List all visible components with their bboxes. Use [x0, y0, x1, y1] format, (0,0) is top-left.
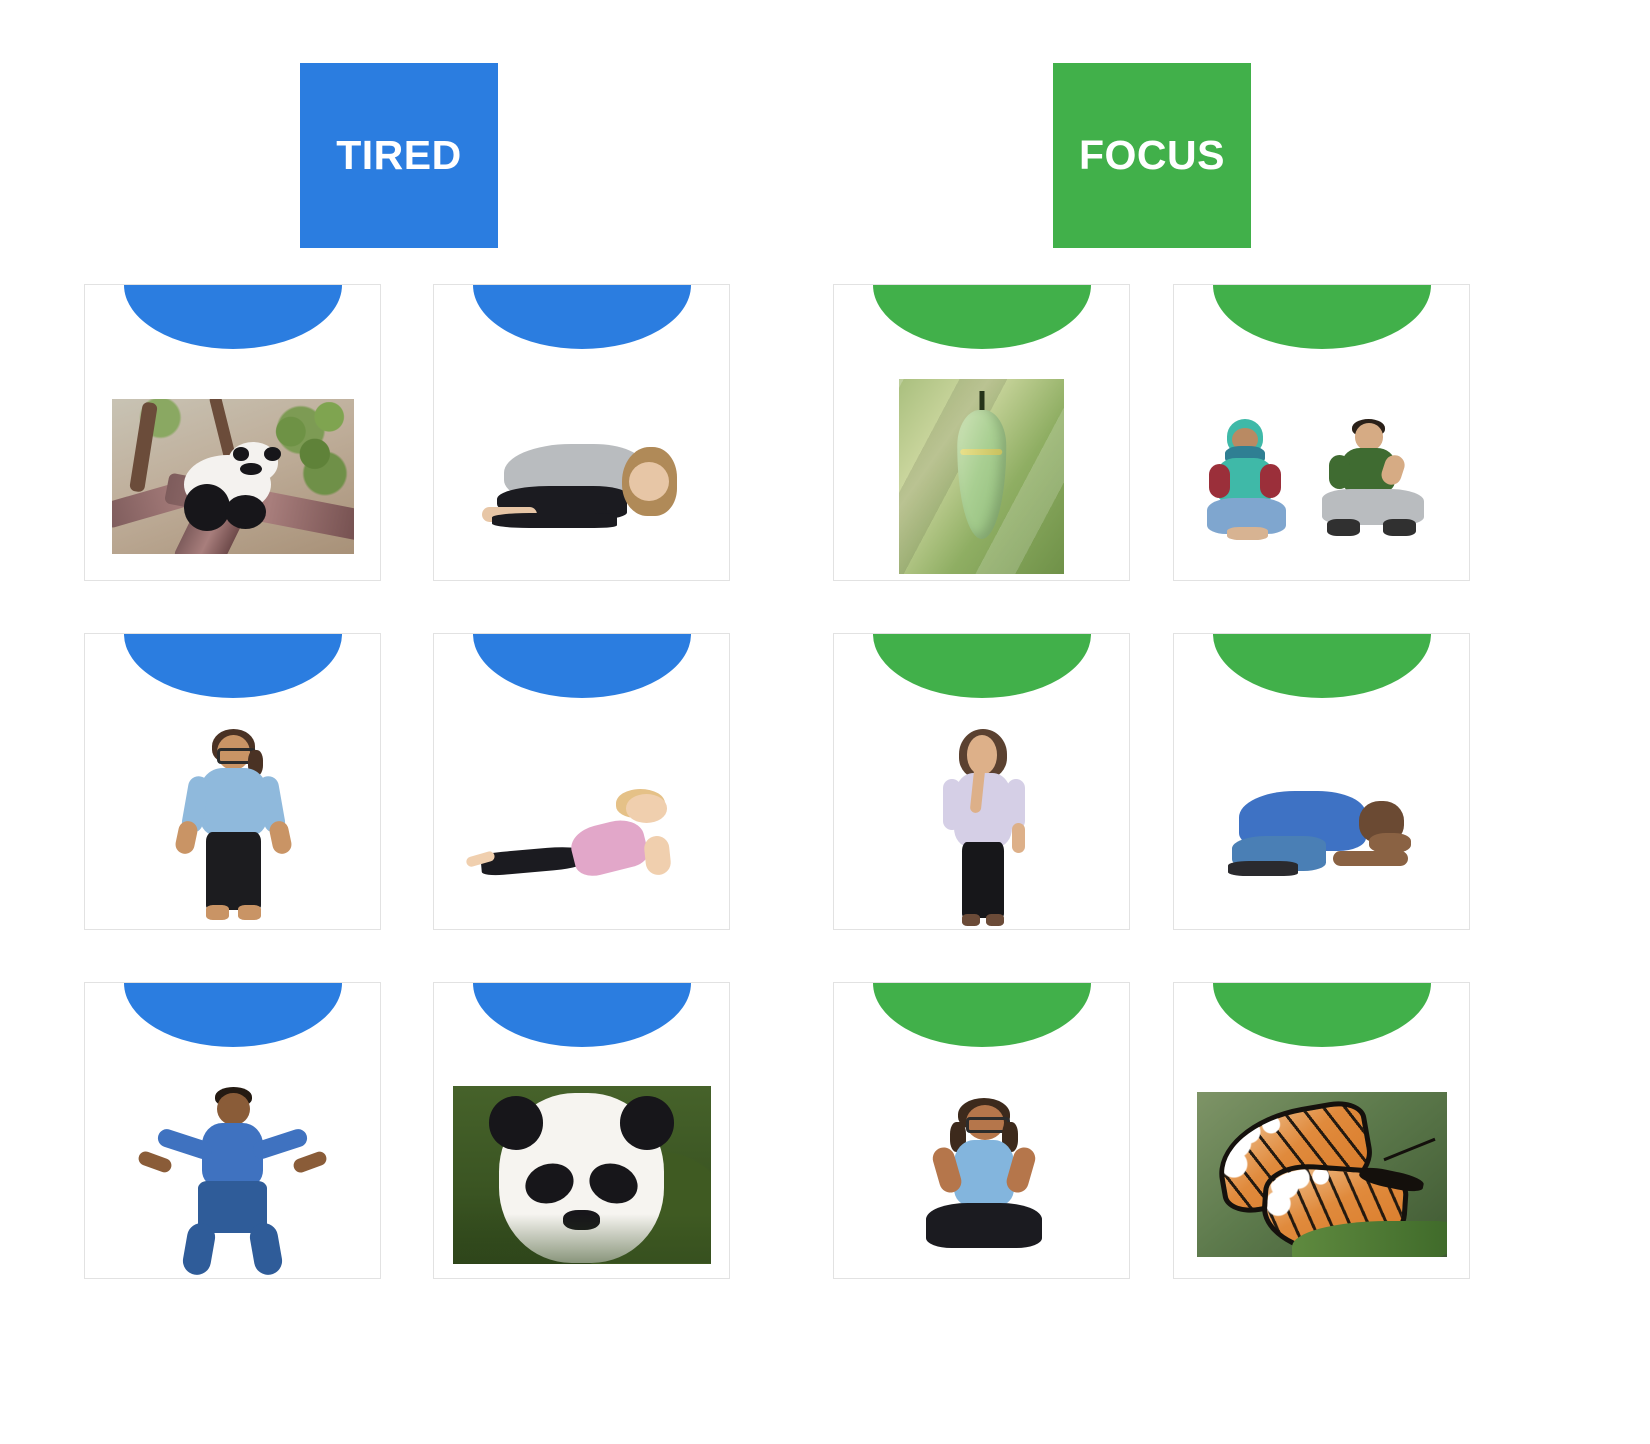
card-media	[834, 385, 1129, 568]
card-media	[434, 734, 729, 917]
girl-finger-to-lips-photo	[902, 721, 1062, 931]
monarch-butterfly-photo	[1197, 1092, 1447, 1257]
card-focus-r2c2[interactable]	[1173, 633, 1470, 930]
card-arc-icon	[124, 633, 342, 698]
card-focus-r2c1[interactable]	[833, 633, 1130, 930]
card-arc-icon	[1213, 982, 1431, 1047]
boy-star-pose-photo	[125, 1075, 340, 1275]
card-arc-icon	[1213, 633, 1431, 698]
card-arc-icon	[473, 633, 691, 698]
toddler-cobra-pose-photo	[459, 761, 704, 891]
card-arc-icon	[873, 633, 1091, 698]
card-focus-r3c1[interactable]	[833, 982, 1130, 1279]
card-focus-r1c2[interactable]	[1173, 284, 1470, 581]
card-media	[85, 1083, 380, 1266]
card-focus-r3c2[interactable]	[1173, 982, 1470, 1279]
child-resting-pose-photo	[457, 402, 707, 552]
green-chrysalis-photo	[899, 379, 1064, 574]
card-focus-r1c1[interactable]	[833, 284, 1130, 581]
card-media	[85, 734, 380, 917]
card-tired-r2c1[interactable]	[84, 633, 381, 930]
card-media	[834, 734, 1129, 917]
card-arc-icon	[124, 284, 342, 349]
card-media	[434, 1083, 729, 1266]
card-arc-icon	[873, 284, 1091, 349]
card-media	[1174, 1083, 1469, 1266]
card-media	[1174, 734, 1469, 917]
card-tired-r1c1[interactable]	[84, 284, 381, 581]
card-grid	[0, 0, 1650, 1444]
card-tired-r3c2[interactable]	[433, 982, 730, 1279]
panda-face-closeup-photo	[453, 1086, 711, 1264]
page-root: { "page": { "title": "Tired and Focus Ac…	[0, 0, 1650, 1444]
card-arc-icon	[873, 982, 1091, 1047]
boy-childs-pose-photo	[1204, 763, 1439, 888]
sleeping-panda-in-tree-photo	[112, 399, 354, 554]
two-children-sitting-crosslegged-photo	[1194, 401, 1449, 553]
card-arc-icon	[473, 284, 691, 349]
card-media	[834, 1083, 1129, 1266]
card-tired-r2c2[interactable]	[433, 633, 730, 930]
card-media	[85, 385, 380, 568]
girl-sitting-hands-up-photo	[882, 1087, 1082, 1262]
card-tired-r3c1[interactable]	[84, 982, 381, 1279]
girl-standing-arms-down-photo	[138, 723, 328, 928]
card-tired-r1c2[interactable]	[433, 284, 730, 581]
card-media	[1174, 385, 1469, 568]
card-media	[434, 385, 729, 568]
card-arc-icon	[473, 982, 691, 1047]
card-arc-icon	[1213, 284, 1431, 349]
card-arc-icon	[124, 982, 342, 1047]
